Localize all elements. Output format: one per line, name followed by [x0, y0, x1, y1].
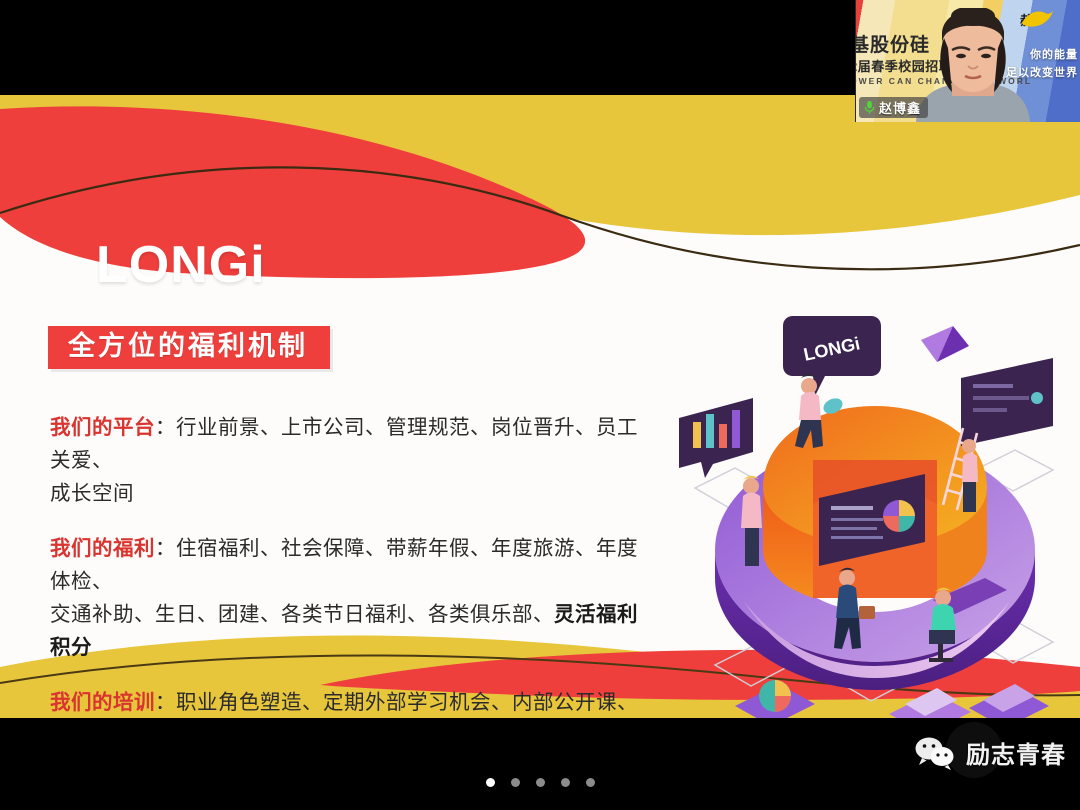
pagination-dot[interactable] [561, 778, 570, 787]
longi-speech-bubble: LONGi [783, 316, 881, 396]
benefit-line: 我们的平台：行业前景、上市公司、管理规范、岗位晋升、员工关爱、 [50, 411, 650, 477]
floating-book-icon [889, 688, 971, 718]
slide-title-banner: 全方位的福利机制 [48, 326, 330, 369]
section-colon: ： [155, 537, 176, 560]
section-line2: 交通补助、生日、团建、各类节日福利、各类俱乐部、 [50, 603, 554, 626]
floating-pie-icon [735, 680, 815, 718]
presentation-slide: LONGi 全方位的福利机制 我们的平台：行业前景、上市公司、管理规范、岗位晋升… [0, 95, 1080, 718]
floating-pyramid [921, 326, 969, 362]
screen-recording-frame: LONGi 全方位的福利机制 我们的平台：行业前景、上市公司、管理规范、岗位晋升… [0, 0, 1080, 810]
pagination-dot[interactable] [486, 778, 495, 787]
section-label: 我们的培训 [50, 691, 155, 714]
section-label: 我们的福利 [50, 537, 155, 560]
benefit-section-welfare: 我们的福利：住宿福利、社会保障、带薪年假、年度旅游、年度体检、 交通补助、生日、… [50, 532, 650, 664]
slide-title-text: 全方位的福利机制 [68, 333, 308, 360]
longi-logo: LONGi [96, 235, 266, 295]
section-line2: 成长空间 [50, 482, 134, 505]
slide-body-content: 我们的平台：行业前景、上市公司、管理规范、岗位晋升、员工关爱、 成长空间 我们的… [50, 411, 650, 718]
slide-pagination-dots[interactable] [0, 778, 1080, 787]
participant-name-badge: 赵博鑫 [859, 97, 928, 118]
person-on-ladder [962, 439, 978, 512]
longi-logo-text: LONGi [96, 236, 266, 294]
participant-name: 赵博鑫 [879, 98, 921, 117]
illustration-svg: LONGi [675, 310, 1075, 718]
wechat-watermark: 励志青春 [914, 735, 1066, 770]
benefit-line: 我们的培训：职业角色塑造、定期外部学习机会、内部公开课、外聘讲 [50, 686, 650, 718]
floating-text-card [961, 358, 1053, 446]
benefit-section-training: 我们的培训：职业角色塑造、定期外部学习机会、内部公开课、外聘讲 师主题集训 [50, 686, 650, 718]
section-colon: ： [155, 416, 176, 439]
benefit-line: 交通补助、生日、团建、各类节日福利、各类俱乐部、灵活福利积分 [50, 598, 650, 664]
isometric-teamwork-illustration: LONGi [675, 310, 1075, 718]
participant-video-tile[interactable]: 基股份硅 2届春季校园招聘 OWER CAN CHANGE THE WORL 郝… [855, 0, 1080, 122]
pagination-dot[interactable] [536, 778, 545, 787]
section-label: 我们的平台 [50, 416, 155, 439]
floating-device-icon [969, 684, 1049, 718]
wechat-logo-icon [914, 736, 956, 770]
benefit-line: 我们的福利：住宿福利、社会保障、带薪年假、年度旅游、年度体检、 [50, 532, 650, 598]
microphone-icon [863, 100, 876, 115]
watermark-text: 励志青春 [966, 735, 1066, 770]
floating-chart-card [679, 398, 753, 478]
benefit-section-platform: 我们的平台：行业前景、上市公司、管理规范、岗位晋升、员工关爱、 成长空间 [50, 411, 650, 510]
pagination-dot[interactable] [511, 778, 520, 787]
benefit-line: 成长空间 [50, 477, 650, 510]
pagination-dot[interactable] [586, 778, 595, 787]
section-colon: ： [155, 691, 176, 714]
